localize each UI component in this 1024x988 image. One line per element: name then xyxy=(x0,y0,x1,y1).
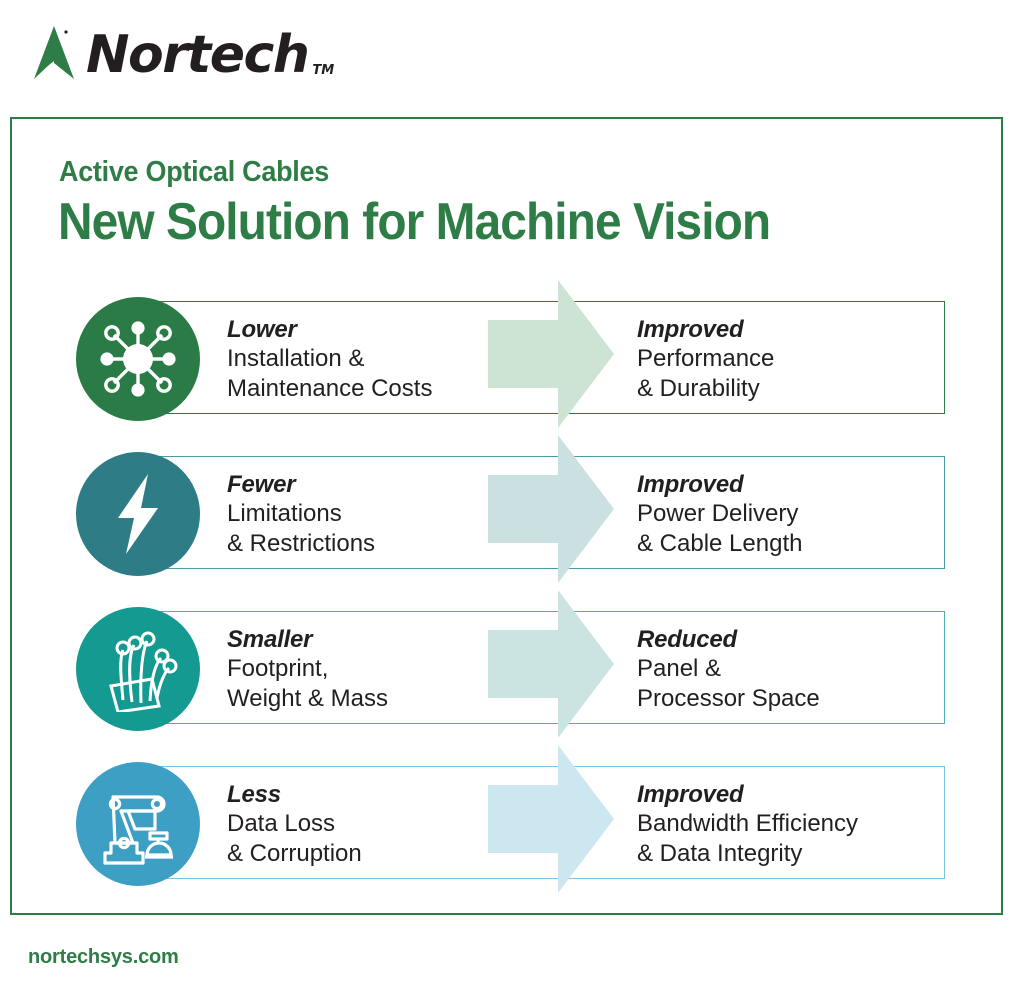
right-line1: Panel & xyxy=(637,654,820,683)
left-line1: Installation & xyxy=(227,344,432,373)
left-line2: Maintenance Costs xyxy=(227,374,432,403)
row-left-text: Fewer Limitations & Restrictions xyxy=(227,470,375,558)
left-line1: Data Loss xyxy=(227,809,362,838)
brand-wordmark: Nortech xyxy=(86,29,308,81)
left-line2: & Restrictions xyxy=(227,529,375,558)
row-icon-circle xyxy=(76,452,200,576)
row-left-text: Less Data Loss & Corruption xyxy=(227,780,362,868)
row-icon-circle xyxy=(76,762,200,886)
left-lead: Smaller xyxy=(227,625,388,654)
row-icon-circle xyxy=(76,297,200,421)
row-right-text: Reduced Panel & Processor Space xyxy=(637,625,820,713)
benefit-row: Lower Installation & Maintenance Costs I… xyxy=(12,284,1005,439)
eyebrow-heading: Active Optical Cables xyxy=(59,156,329,189)
right-line1: Bandwidth Efficiency xyxy=(637,809,858,838)
right-line2: & Cable Length xyxy=(637,529,802,558)
brand-logo: Nortech TM xyxy=(30,22,338,84)
left-line1: Footprint, xyxy=(227,654,388,683)
right-lead: Improved xyxy=(637,780,858,809)
right-lead: Reduced xyxy=(637,625,820,654)
row-right-text: Improved Power Delivery & Cable Length xyxy=(637,470,802,558)
right-arrow-icon xyxy=(488,590,614,738)
right-arrow-icon xyxy=(488,280,614,428)
row-left-text: Smaller Footprint, Weight & Mass xyxy=(227,625,388,713)
right-lead: Improved xyxy=(637,470,802,499)
network-hub-icon xyxy=(96,317,180,401)
right-line2: & Durability xyxy=(637,374,774,403)
row-right-text: Improved Performance & Durability xyxy=(637,315,774,403)
benefit-row: Smaller Footprint, Weight & Mass Reduced… xyxy=(12,594,1005,749)
robotic-arm-icon xyxy=(95,781,181,867)
page-title: New Solution for Machine Vision xyxy=(58,195,770,250)
right-line1: Power Delivery xyxy=(637,499,802,528)
right-line2: & Data Integrity xyxy=(637,839,858,868)
right-arrow-icon xyxy=(488,745,614,893)
row-icon-circle xyxy=(76,607,200,731)
trademark-symbol: TM xyxy=(312,63,334,78)
left-line2: Weight & Mass xyxy=(227,684,388,713)
infographic-frame: Active Optical Cables New Solution for M… xyxy=(10,117,1003,915)
left-line1: Limitations xyxy=(227,499,375,528)
right-line1: Performance xyxy=(637,344,774,373)
right-arrow-icon xyxy=(488,435,614,583)
nortech-arrow-logo-icon xyxy=(30,25,78,81)
right-line2: Processor Space xyxy=(637,684,820,713)
footer-website-url[interactable]: nortechsys.com xyxy=(28,946,179,969)
row-right-text: Improved Bandwidth Efficiency & Data Int… xyxy=(637,780,858,868)
row-left-text: Lower Installation & Maintenance Costs xyxy=(227,315,432,403)
benefit-row: Less Data Loss & Corruption Improved Ban… xyxy=(12,749,1005,904)
left-lead: Fewer xyxy=(227,470,375,499)
left-lead: Lower xyxy=(227,315,432,344)
left-line2: & Corruption xyxy=(227,839,362,868)
lightning-bolt-icon xyxy=(96,472,180,556)
fiber-optic-bundle-icon xyxy=(95,626,181,712)
left-lead: Less xyxy=(227,780,362,809)
right-lead: Improved xyxy=(637,315,774,344)
benefit-row: Fewer Limitations & Restrictions Improve… xyxy=(12,439,1005,594)
